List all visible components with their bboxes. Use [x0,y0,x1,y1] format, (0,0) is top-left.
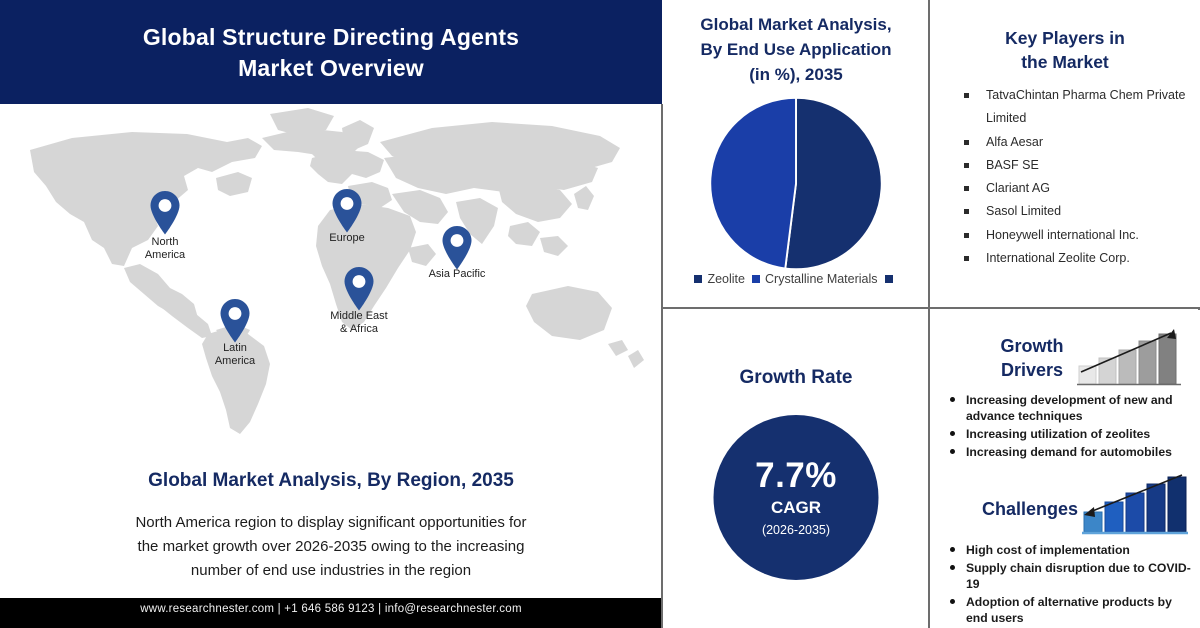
key-players-title: Key Players in the Market [930,26,1200,74]
bullet-icon [950,449,955,454]
map-label-asia-pacific: Asia Pacific [429,268,486,281]
footer-contact-text: www.researchnester.com | +1 646 586 9123… [0,603,662,615]
world-map-svg [12,104,652,434]
map-label-latin-america: Latin America [215,342,255,368]
square-bullet-icon [964,186,969,191]
pie-slice-crystalline-materials[interactable] [710,98,796,269]
legend-label-crystalline-materials: Crystalline Materials [765,272,878,286]
list-item: BASF SE [958,154,1188,177]
map-label-middle-east-africa: Middle East & Africa [330,310,387,336]
legend-item-truncated[interactable] [885,275,898,283]
pie-chart-panel: Global Market Analysis, By End Use Appli… [664,0,928,307]
list-item: Honeywell international Inc. [958,224,1188,247]
growth-rate-percent: 7.7% [755,456,837,496]
map-pin-latin-america[interactable] [218,298,252,344]
key-player-name: TatvaChintan Pharma Chem Private Limited [986,88,1185,125]
growth-trend-chart [1075,326,1185,393]
square-bullet-icon [964,140,969,145]
growth-driver-text: Increasing demand for automobiles [966,445,1172,459]
challenge-text: High cost of implementation [966,543,1130,557]
legend-swatch-truncated [885,275,893,283]
legend-swatch-crystalline-materials [752,275,760,283]
growth-rate-period: (2026-2035) [762,520,830,540]
growth-drivers-panel: Growth Drivers Increasing development of… [930,310,1200,470]
pie-title-line1: Global Market Analysis, [668,12,924,37]
growth-trend-chart-svg [1075,326,1185,388]
region-desc-line2: the market growth over 2026-2035 owing t… [70,535,592,559]
pie-chart-legend: Zeolite Crystalline Materials [664,272,928,286]
growth-drivers-list: Increasing development of new and advanc… [946,392,1194,462]
legend-label-zeolite: Zeolite [707,272,745,286]
legend-item-zeolite[interactable]: Zeolite [694,272,745,286]
list-item: Sasol Limited [958,200,1188,223]
region-analysis-description: North America region to display signific… [70,511,592,583]
square-bullet-icon [964,256,969,261]
growth-driver-text: Increasing utilization of zeolites [966,427,1150,441]
left-column: Global Structure Directing Agents Market… [0,0,662,628]
pie-title-line3: (in %), 2035 [668,62,924,87]
key-players-title-line2: the Market [930,50,1200,74]
page-title: Global Structure Directing Agents Market… [0,22,662,84]
map-label-europe: Europe [329,232,364,245]
divider-horizontal-right [661,307,1200,309]
growth-drivers-title-line1: Growth [972,334,1092,358]
challenges-trend-chart [1078,470,1190,541]
infographic-root: Global Structure Directing Agents Market… [0,0,1200,628]
list-item: Increasing development of new and advanc… [946,392,1194,424]
growth-rate-badge: 7.7% CAGR (2026-2035) [714,415,879,580]
square-bullet-icon [964,93,969,98]
square-bullet-icon [964,163,969,168]
growth-drivers-title: Growth Drivers [972,334,1092,382]
legend-item-crystalline-materials[interactable]: Crystalline Materials [752,272,878,286]
key-players-title-line1: Key Players in [930,26,1200,50]
list-item: Increasing demand for automobiles [946,444,1194,460]
legend-swatch-zeolite [694,275,702,283]
key-players-list: TatvaChintan Pharma Chem Private Limited… [958,84,1188,270]
pie-title-line2: By End Use Application [668,37,924,62]
list-item: TatvaChintan Pharma Chem Private Limited [958,84,1188,131]
challenges-panel: Challenges High cost of implementation S… [930,470,1200,628]
list-item: High cost of implementation [946,542,1194,558]
region-desc-line3: number of end use industries in the regi… [70,559,592,583]
challenge-text: Supply chain disruption due to COVID-19 [966,561,1191,591]
region-analysis-title: Global Market Analysis, By Region, 2035 [0,470,662,492]
bullet-icon [950,431,955,436]
challenges-list: High cost of implementation Supply chain… [946,542,1194,628]
list-item: International Zeolite Corp. [958,247,1188,270]
list-item: Increasing utilization of zeolites [946,426,1194,442]
key-player-name: International Zeolite Corp. [986,251,1130,265]
growth-driver-text: Increasing development of new and advanc… [966,393,1173,423]
key-player-name: Sasol Limited [986,204,1061,218]
growth-drivers-title-line2: Drivers [972,358,1092,382]
page-title-line1: Global Structure Directing Agents [0,22,662,53]
world-map: North America Europe Asia Pacific Latin … [0,104,662,434]
list-item: Adoption of alternative products by end … [946,594,1194,626]
region-desc-line1: North America region to display signific… [70,511,592,535]
bullet-icon [950,565,955,570]
key-player-name: Clariant AG [986,181,1050,195]
page-title-line2: Market Overview [0,53,662,84]
map-pin-north-america[interactable] [148,190,182,236]
square-bullet-icon [964,209,969,214]
list-item: Alfa Aesar [958,131,1188,154]
bullet-icon [950,397,955,402]
pie-chart-title: Global Market Analysis, By End Use Appli… [668,12,924,87]
growth-rate-title: Growth Rate [664,367,928,389]
pie-slice-zeolite[interactable] [785,98,881,270]
challenges-trend-chart-svg [1078,470,1190,536]
growth-rate-panel: Growth Rate 7.7% CAGR (2026-2035) [664,310,928,628]
bullet-icon [950,599,955,604]
growth-rate-metric: CAGR [771,496,821,520]
square-bullet-icon [964,233,969,238]
key-player-name: Honeywell international Inc. [986,228,1139,242]
pie-chart-svg [709,96,884,271]
key-player-name: Alfa Aesar [986,135,1043,149]
map-pin-middle-east-africa[interactable] [342,266,376,312]
bullet-icon [950,547,955,552]
map-pin-asia-pacific[interactable] [440,225,474,271]
map-label-north-america: North America [145,236,185,262]
map-pin-europe[interactable] [330,188,364,234]
list-item: Supply chain disruption due to COVID-19 [946,560,1194,592]
pie-chart[interactable] [709,96,884,271]
divider-vertical-left [661,104,663,628]
list-item: Clariant AG [958,177,1188,200]
key-players-panel: Key Players in the Market TatvaChintan P… [930,0,1200,307]
key-player-name: BASF SE [986,158,1039,172]
challenge-text: Adoption of alternative products by end … [966,595,1172,625]
